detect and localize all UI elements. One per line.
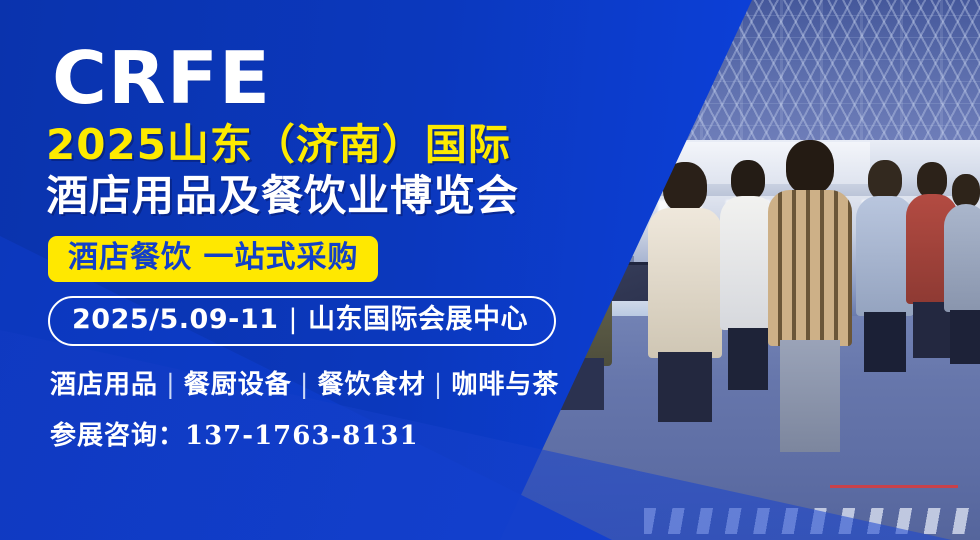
tagline-badge: 酒店餐饮 一站式采购 bbox=[48, 236, 378, 283]
visitor-head bbox=[952, 174, 980, 208]
visitor-head bbox=[917, 162, 947, 198]
category-separator: | bbox=[292, 370, 318, 400]
category-item-2: 餐饮食材 bbox=[318, 370, 426, 400]
title-line-2: 酒店用品及餐饮业博览会 bbox=[46, 170, 640, 221]
visitor-body bbox=[648, 208, 722, 358]
event-venue: 山东国际会展中心 bbox=[308, 304, 528, 335]
date-venue-bar: 2025/5.09-11|山东国际会展中心 bbox=[48, 296, 556, 346]
visitor-figure bbox=[768, 140, 852, 452]
visitor-body bbox=[944, 204, 980, 312]
visitor-head bbox=[868, 160, 902, 200]
date-venue-separator: | bbox=[278, 304, 308, 335]
category-item-0: 酒店用品 bbox=[50, 370, 158, 400]
visitor-legs bbox=[864, 312, 906, 372]
category-item-1: 餐厨设备 bbox=[184, 370, 292, 400]
category-item-3: 咖啡与茶 bbox=[451, 370, 559, 400]
visitor-legs bbox=[658, 352, 711, 422]
category-separator: | bbox=[158, 370, 184, 400]
visitor-legs bbox=[728, 328, 768, 390]
visitor-body bbox=[768, 190, 852, 346]
title-line-1: 2025山东（济南）国际 bbox=[46, 119, 640, 170]
visitor-figure bbox=[944, 174, 980, 364]
exhibition-banner: NH-41 bbox=[0, 0, 980, 540]
contact-line: 参展咨询：137-1763-8131 bbox=[50, 415, 640, 452]
visitor-head bbox=[731, 160, 765, 200]
crfe-logo: CRFE bbox=[52, 44, 664, 113]
visitor-figure bbox=[648, 162, 722, 422]
category-separator: | bbox=[426, 370, 452, 400]
visitor-legs bbox=[780, 340, 841, 452]
visitor-head bbox=[786, 140, 834, 194]
banner-content: CRFE 2025山东（济南）国际 酒店用品及餐饮业博览会 酒店餐饮 一站式采购… bbox=[0, 0, 640, 540]
category-list: 酒店用品|餐厨设备|餐饮食材|咖啡与茶 bbox=[50, 364, 640, 401]
visitor-legs bbox=[950, 310, 980, 364]
floor-red-marking bbox=[830, 485, 958, 488]
event-date: 2025/5.09-11 bbox=[72, 304, 278, 335]
